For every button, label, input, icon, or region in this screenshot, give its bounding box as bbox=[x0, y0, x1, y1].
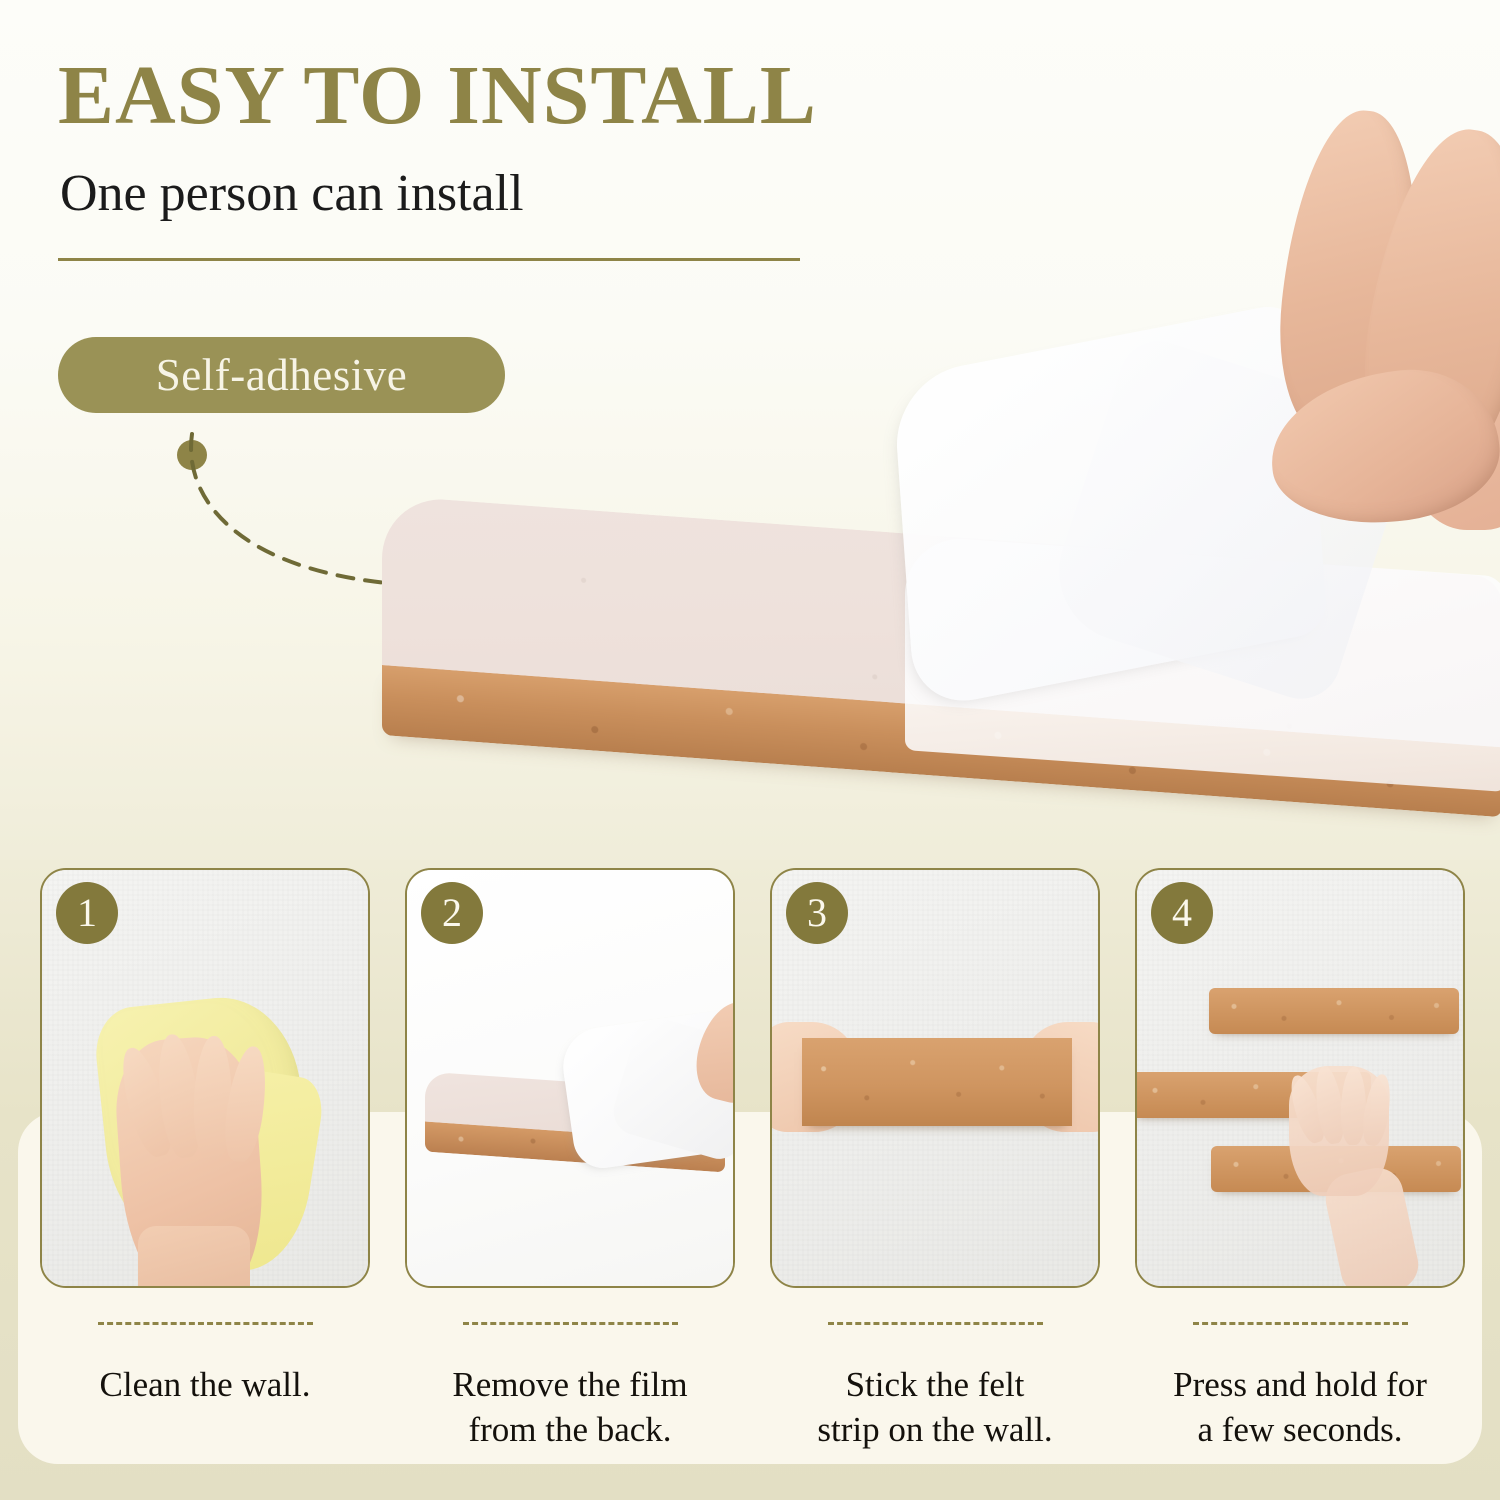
step-caption-4: Press and hold for a few seconds. bbox=[1135, 1322, 1465, 1453]
step-caption-1: Clean the wall. bbox=[40, 1322, 370, 1408]
cork-strip bbox=[1209, 988, 1459, 1034]
caption-divider bbox=[1193, 1322, 1408, 1325]
caption-text: Press and hold for a few seconds. bbox=[1135, 1363, 1465, 1453]
step-card-1: 1 bbox=[40, 868, 370, 1288]
step-number-badge-2: 2 bbox=[421, 882, 483, 944]
caption-divider bbox=[98, 1322, 313, 1325]
infographic-root: EASY TO INSTALL One person can install S… bbox=[0, 0, 1500, 1500]
step-number-badge-1: 1 bbox=[56, 882, 118, 944]
step-caption-3: Stick the felt strip on the wall. bbox=[770, 1322, 1100, 1453]
caption-divider bbox=[463, 1322, 678, 1325]
step-number-badge-4: 4 bbox=[1151, 882, 1213, 944]
steps-gallery: 1 2 3 bbox=[0, 0, 1500, 1500]
wrist bbox=[138, 1226, 250, 1288]
step-caption-2: Remove the film from the back. bbox=[405, 1322, 735, 1453]
cork-strip bbox=[802, 1038, 1072, 1126]
caption-text: Remove the film from the back. bbox=[405, 1363, 735, 1453]
step-card-4: 4 bbox=[1135, 868, 1465, 1288]
caption-text: Clean the wall. bbox=[40, 1363, 370, 1408]
caption-text: Stick the felt strip on the wall. bbox=[770, 1363, 1100, 1453]
step-number-badge-3: 3 bbox=[786, 882, 848, 944]
step-card-3: 3 bbox=[770, 868, 1100, 1288]
step-card-2: 2 bbox=[405, 868, 735, 1288]
caption-divider bbox=[828, 1322, 1043, 1325]
